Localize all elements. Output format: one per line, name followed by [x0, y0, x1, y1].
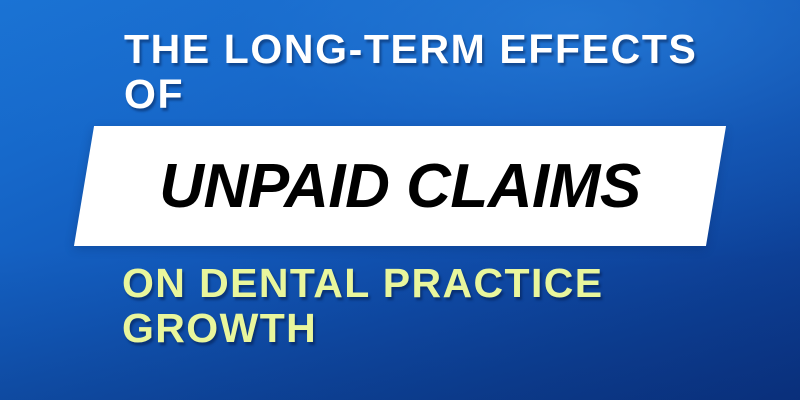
poster-canvas: THE LONG-TERM EFFECTS OF UNPAID CLAIMS O… — [0, 0, 800, 400]
banner-text: UNPAID CLAIMS — [84, 126, 716, 246]
headline-text: THE LONG-TERM EFFECTS OF — [124, 27, 764, 117]
unpaid-claims-banner: UNPAID CLAIMS — [74, 126, 726, 246]
subheadline-text: ON DENTAL PRACTICE GROWTH — [122, 261, 772, 351]
